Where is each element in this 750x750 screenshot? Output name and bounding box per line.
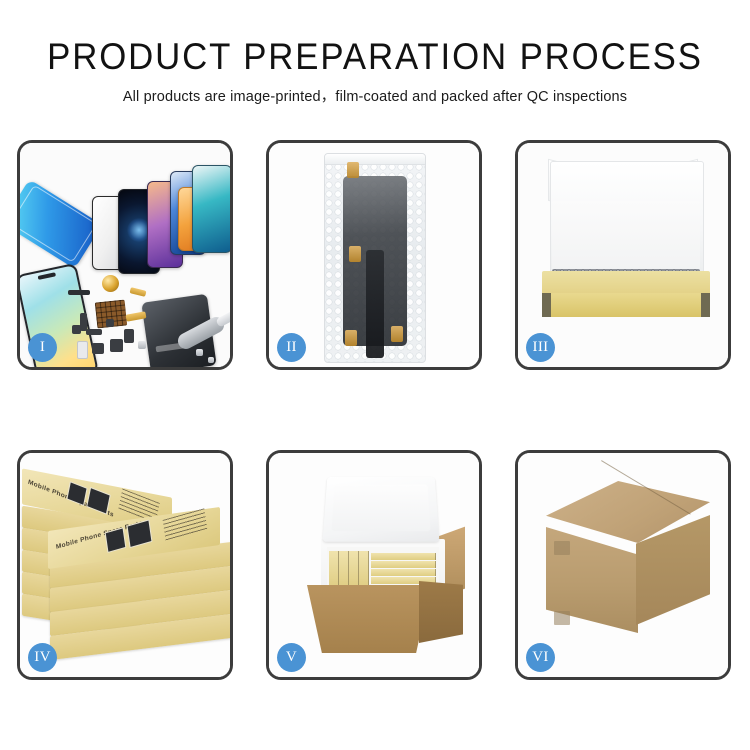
panel-inner-box-image: [518, 143, 728, 367]
panel-badge: V: [277, 643, 306, 672]
spare-part-bracket-2: [86, 329, 102, 335]
panel-bubble-wrap-image: [269, 143, 479, 367]
panel-foam-carton: V: [266, 450, 482, 680]
phones-and-parts-scene: [20, 143, 230, 367]
panel-inner-box: III: [515, 140, 731, 370]
product-preparation-process-infographic: PRODUCT PREPARATION PROCESS All products…: [0, 0, 750, 750]
packed-part-tab-mid: [349, 246, 361, 262]
foam-carton-scene: [269, 453, 479, 677]
phone-back-cover-blue: [20, 179, 102, 269]
packed-part-tab-top: [347, 162, 359, 178]
panel-sealed-carton-image: [518, 453, 728, 677]
spare-part-screw-1: [196, 349, 203, 356]
packed-part-tab-bottom-left: [345, 330, 357, 346]
panel-products: I: [17, 140, 233, 370]
retail-pack-7: [371, 569, 436, 576]
retail-pack-3: [349, 551, 359, 589]
carton-tape-patch-top: [554, 541, 570, 555]
box-label-window-2: [86, 487, 111, 515]
page-title: PRODUCT PREPARATION PROCESS: [23, 36, 728, 78]
foam-box-lid: [322, 477, 439, 542]
bubble-wrap-bag: [324, 153, 426, 363]
retail-pack-2: [339, 551, 349, 589]
kraft-box-front-face: [542, 293, 710, 317]
spare-part-bracket-1: [80, 313, 87, 331]
retail-pack-4: [359, 551, 369, 589]
panel-badge: VI: [526, 643, 555, 672]
panel-foam-carton-image: [269, 453, 479, 677]
vibration-motor-coin: [102, 275, 119, 292]
sealed-carton-scene: [518, 453, 728, 677]
foam-padding-sheet: [552, 201, 700, 271]
panel-sealed-carton: VI: [515, 450, 731, 680]
box-label-window-1: [66, 481, 87, 506]
retail-pack-5: [371, 553, 436, 560]
bag-seal-strip: [325, 154, 425, 165]
bubble-wrap-scene: [269, 143, 479, 367]
panel-badge: II: [277, 333, 306, 362]
retail-pack-1: [329, 551, 339, 589]
spare-part-metal-shield: [138, 341, 146, 349]
panel-badge: I: [28, 333, 57, 362]
spare-part-taptic-module: [124, 329, 134, 343]
kraft-box-end-left: [542, 293, 551, 317]
packed-part-flex-cable: [366, 250, 384, 358]
panel-badge: IV: [28, 643, 57, 672]
box-label-spec-lines-2: [163, 508, 208, 541]
panel-boxed-stack: Mobile Phone Spare Parts Mobile Phone Sp…: [17, 450, 233, 680]
panel-badge: III: [526, 333, 555, 362]
spare-part-small-bracket: [106, 319, 114, 327]
spare-part-camera-ring: [92, 343, 104, 354]
page-subtitle: All products are image-printed，film-coat…: [0, 87, 750, 107]
carton-side-panel: [419, 581, 463, 643]
panel-boxed-stack-image: Mobile Phone Spare Parts Mobile Phone Sp…: [20, 453, 230, 677]
spare-part-speaker-mesh: [110, 339, 123, 352]
spare-part-antenna-strip: [68, 290, 90, 295]
spare-part-screw-plate: [72, 325, 81, 334]
phone-lcd-teal-gradient: [192, 165, 230, 253]
retail-pack-6: [371, 561, 436, 568]
panel-bubble-wrap: II: [266, 140, 482, 370]
spare-part-screw-2: [208, 357, 214, 363]
retail-box-stack-scene: Mobile Phone Spare Parts Mobile Phone Sp…: [20, 453, 230, 677]
open-inner-box-scene: [518, 143, 728, 367]
panel-products-image: [20, 143, 230, 367]
box-label-window-4: [127, 519, 153, 548]
carton-front-panel: [307, 585, 431, 653]
header: PRODUCT PREPARATION PROCESS All products…: [0, 36, 750, 107]
spare-part-white-clip: [77, 341, 88, 359]
process-steps-grid: I II: [17, 140, 731, 680]
carton-tape-patch-bottom: [554, 611, 570, 625]
packed-part-tab-bottom-right: [391, 326, 403, 342]
box-label-window-3: [105, 527, 127, 553]
spare-part-gold-connector: [130, 287, 147, 297]
kraft-box-end-right: [701, 293, 710, 317]
